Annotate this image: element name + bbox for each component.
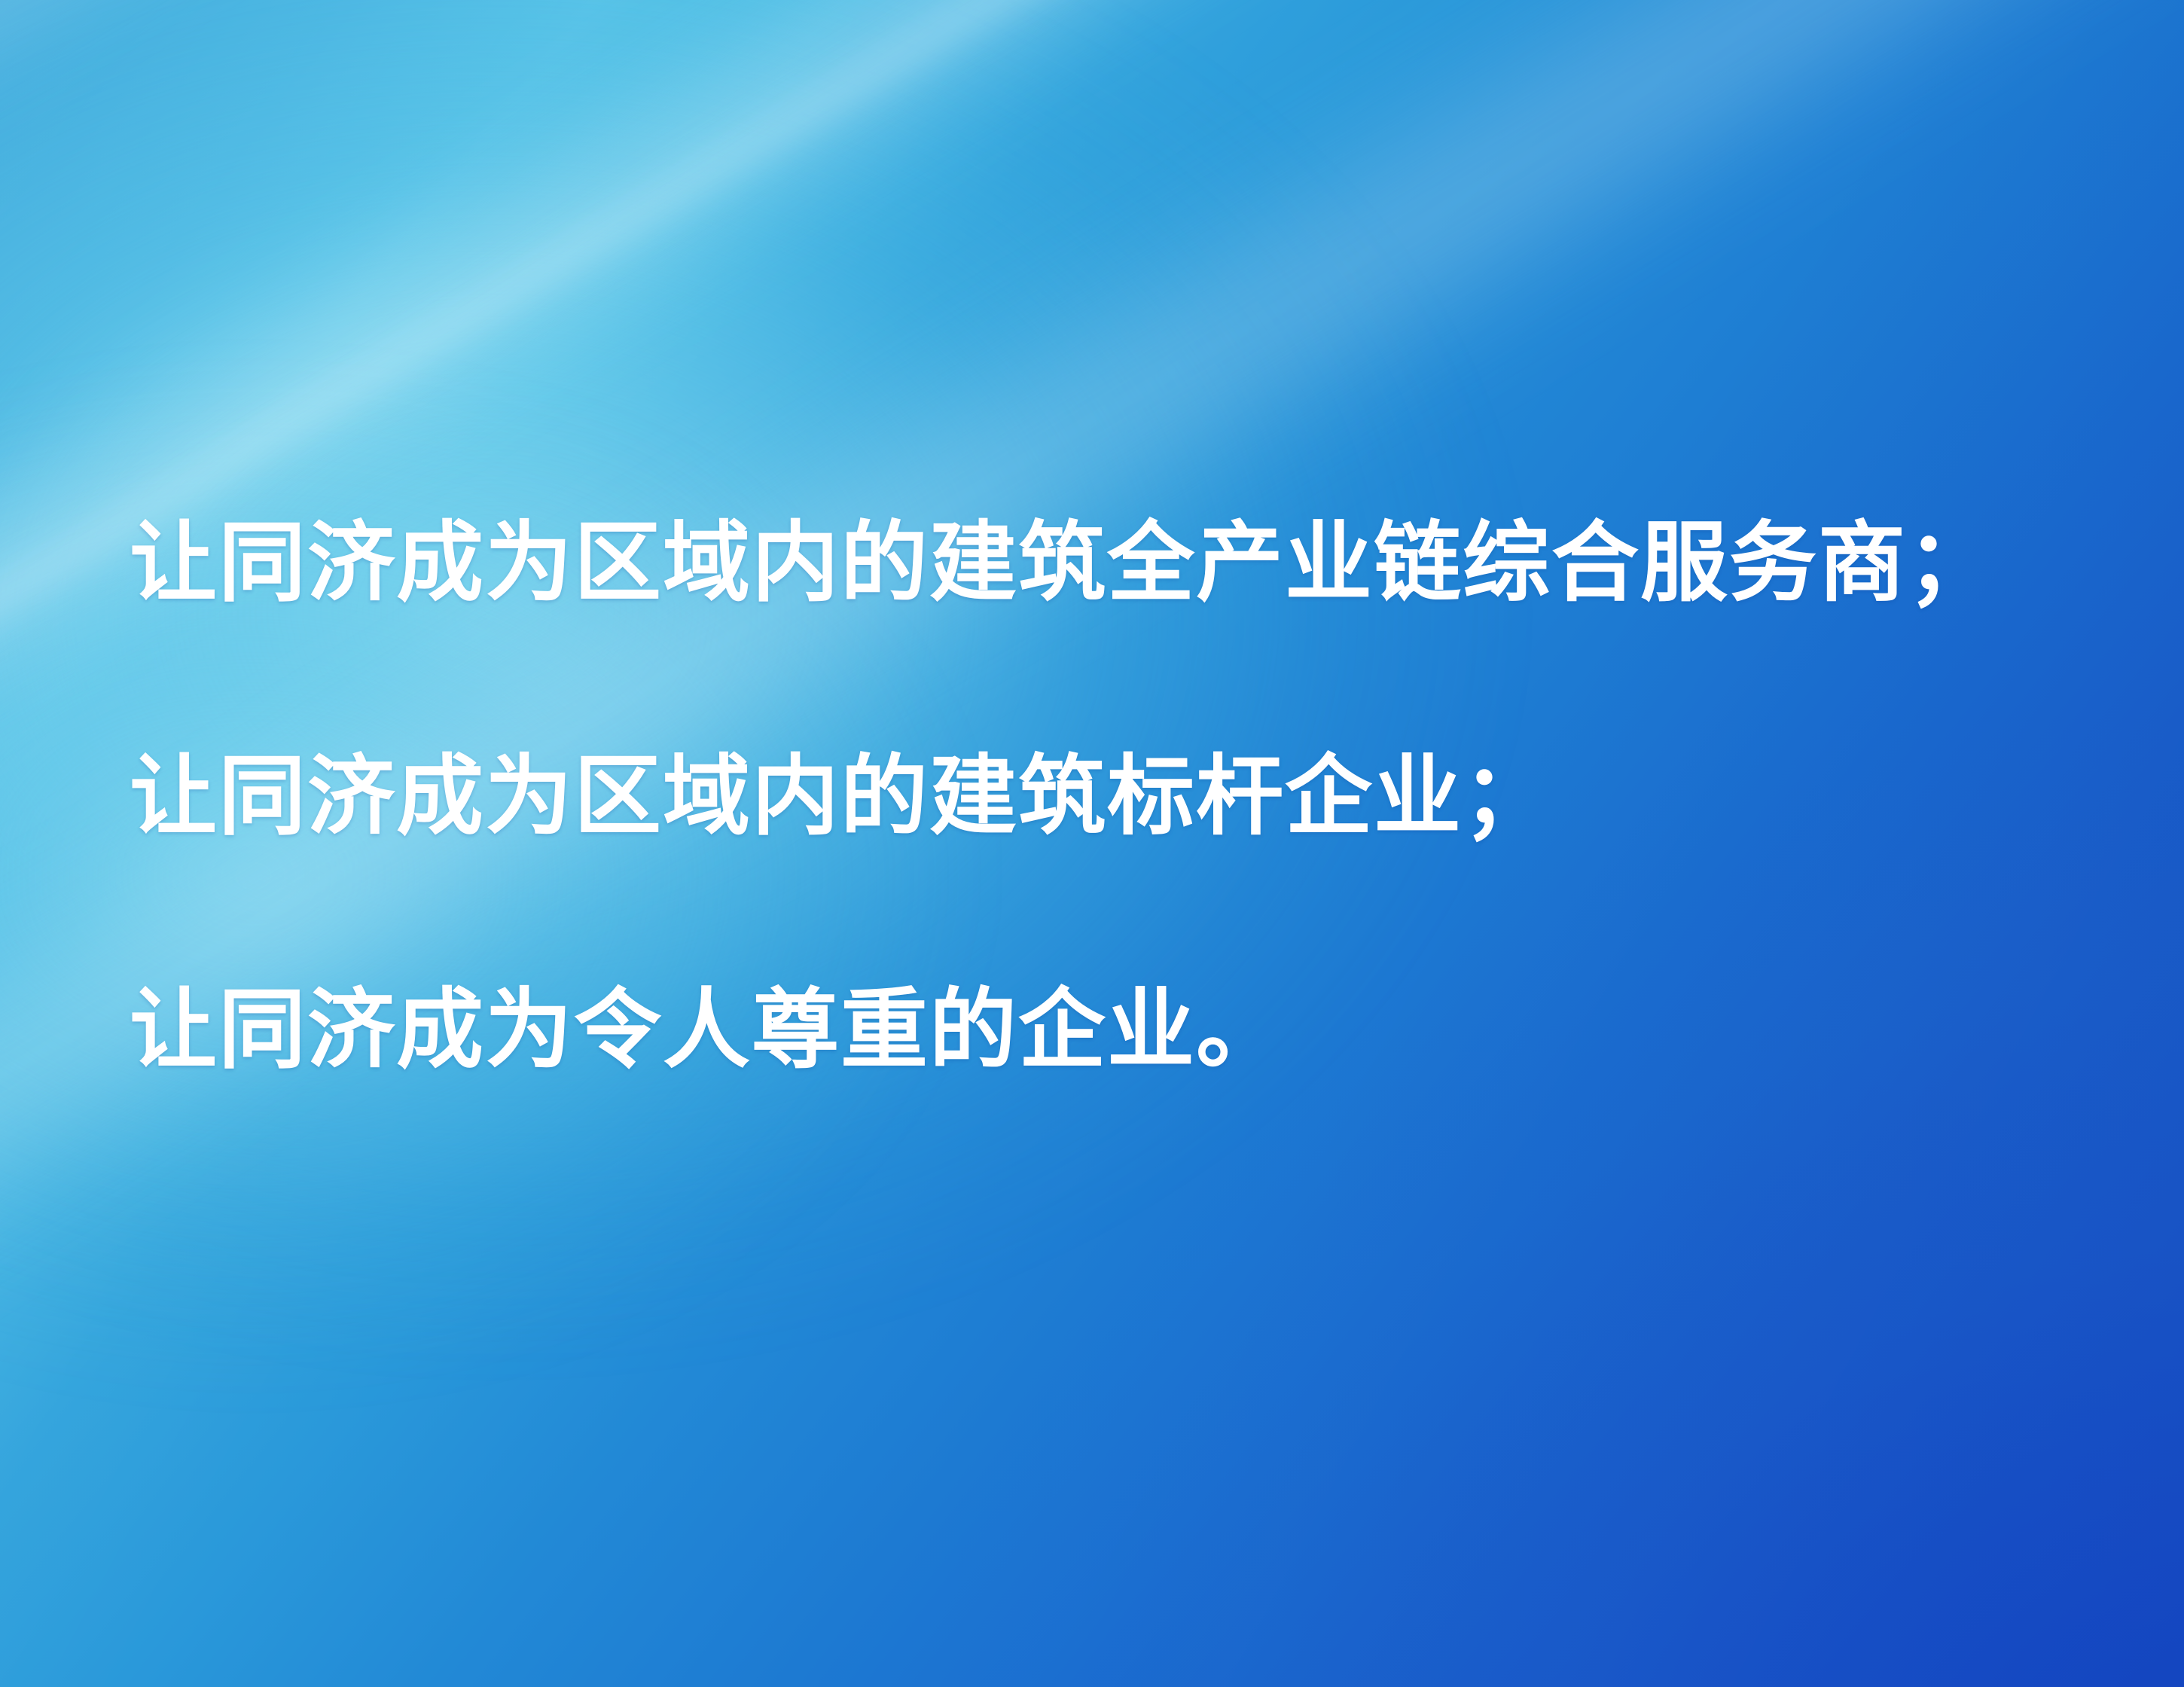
- slogan-line-2: 让同济成为区域内的建筑标杆企业；: [130, 679, 2118, 913]
- presentation-slide: 让同济成为区域内的建筑全产业链综合服务商； 让同济成为区域内的建筑标杆企业； 让…: [0, 0, 2184, 1687]
- slogan-text-block: 让同济成为区域内的建筑全产业链综合服务商； 让同济成为区域内的建筑标杆企业； 让…: [130, 446, 2118, 1146]
- slogan-line-3: 让同济成为令人尊重的企业。: [130, 913, 2118, 1146]
- slogan-line-1: 让同济成为区域内的建筑全产业链综合服务商；: [130, 446, 2118, 679]
